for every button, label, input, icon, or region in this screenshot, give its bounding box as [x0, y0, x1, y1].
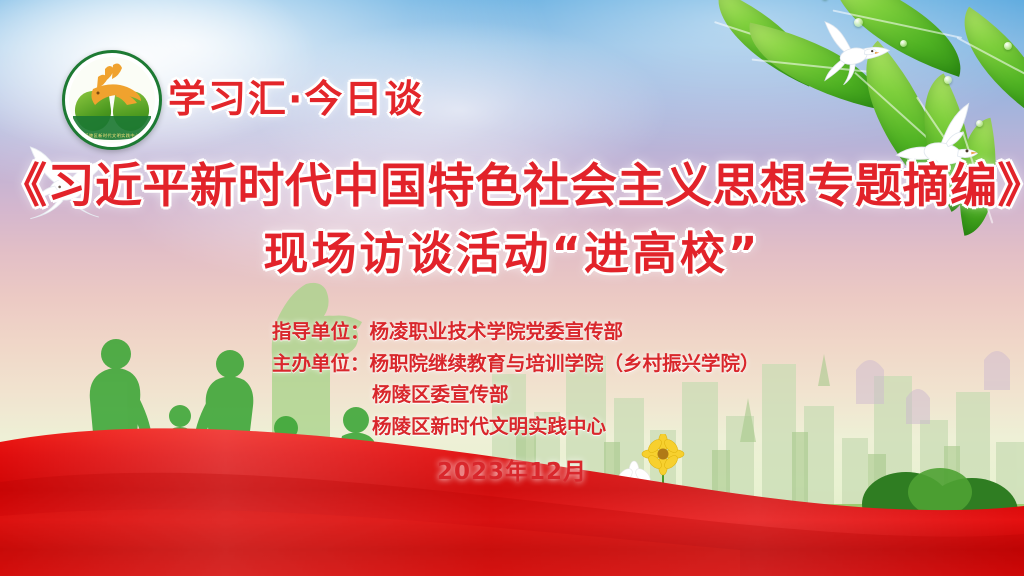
organizer-row: 主办单位：杨职院继续教育与培训学院（乡村振兴学院）	[272, 348, 760, 380]
dew-drop-icon	[944, 76, 952, 84]
organizer-line-0: 指导单位：杨凌职业技术学院党委宣传部	[272, 320, 623, 343]
organizer-line-1: 主办单位：杨职院继续教育与培训学院（乡村振兴学院）	[272, 352, 760, 375]
poster-canvas: 杨陵区新时代文明实践中心 学习汇·今日谈 《习近平新时代中国特色社会主义思想专题…	[0, 0, 1024, 576]
organizer-row: 指导单位：杨凌职业技术学院党委宣传部	[272, 316, 760, 348]
organizer-line-2: 杨陵区委宣传部	[372, 383, 509, 406]
emblem-logo: 杨陵区新时代文明实践中心	[62, 50, 162, 150]
event-date: 2023年12月	[0, 452, 1024, 486]
organizer-line-3: 杨陵区新时代文明实践中心	[372, 415, 606, 438]
dew-drop-icon	[854, 18, 863, 27]
brand-title: 学习汇·今日谈	[168, 68, 424, 123]
title-line-1: 《习近平新时代中国特色社会主义思想专题摘编》	[0, 158, 1024, 215]
emblem-arc-text: 杨陵区新时代文明实践中心	[69, 133, 155, 139]
emblem-inner: 杨陵区新时代文明实践中心	[69, 57, 155, 143]
organizer-list: 指导单位：杨凌职业技术学院党委宣传部 主办单位：杨职院继续教育与培训学院（乡村振…	[272, 316, 760, 442]
emblem-wheat-dove-icon	[81, 63, 143, 115]
dew-drop-icon	[976, 120, 983, 127]
title-line-2: 现场访谈活动“进高校”	[0, 227, 1024, 282]
organizer-row: 杨陵区新时代文明实践中心	[272, 411, 760, 443]
dew-drop-icon	[900, 40, 907, 47]
dew-drop-icon	[1004, 42, 1012, 50]
main-title: 《习近平新时代中国特色社会主义思想专题摘编》 现场访谈活动“进高校”	[0, 158, 1024, 282]
organizer-row: 杨陵区委宣传部	[272, 379, 760, 411]
